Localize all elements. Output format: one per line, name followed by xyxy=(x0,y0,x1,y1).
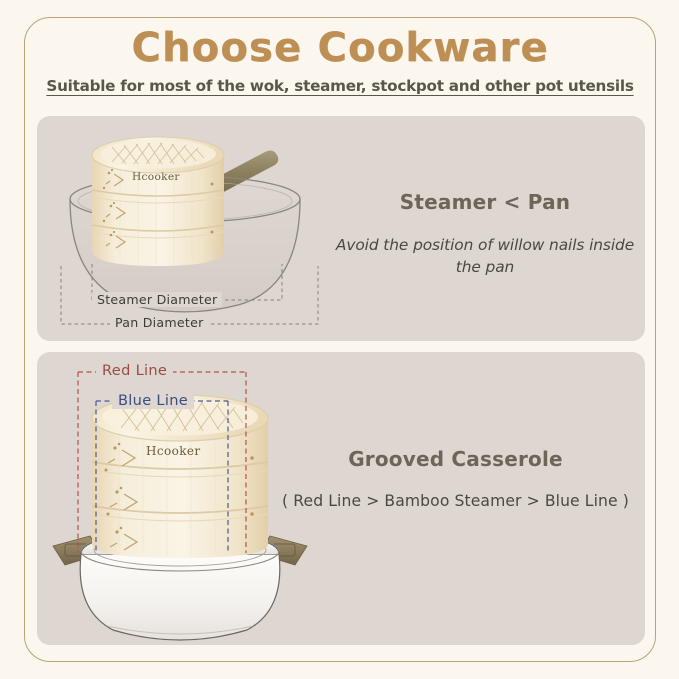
subcopy-casserole: ( Red Line > Bamboo Steamer > Blue Line … xyxy=(268,492,643,510)
steamer-diameter-label: Steamer Diameter xyxy=(92,292,222,307)
subcopy-steamer-pan: Avoid the position of willow nails insid… xyxy=(330,234,640,279)
pan-diameter-label: Pan Diameter xyxy=(110,315,209,330)
blue-line-label: Blue Line xyxy=(112,392,194,409)
headline-steamer-pan: Steamer < Pan xyxy=(330,190,640,214)
copy-steamer-pan: Steamer < Pan Avoid the position of will… xyxy=(330,190,640,279)
red-line-label: Red Line xyxy=(96,362,173,379)
blue-line-bracket xyxy=(96,401,228,553)
copy-casserole: Grooved Casserole ( Red Line > Bamboo St… xyxy=(268,447,643,510)
headline-casserole: Grooved Casserole xyxy=(268,447,643,471)
page-title: Choose Cookware xyxy=(24,26,656,70)
page-subtitle: Suitable for most of the wok, steamer, s… xyxy=(24,77,656,95)
header: Choose Cookware Suitable for most of the… xyxy=(24,26,656,95)
